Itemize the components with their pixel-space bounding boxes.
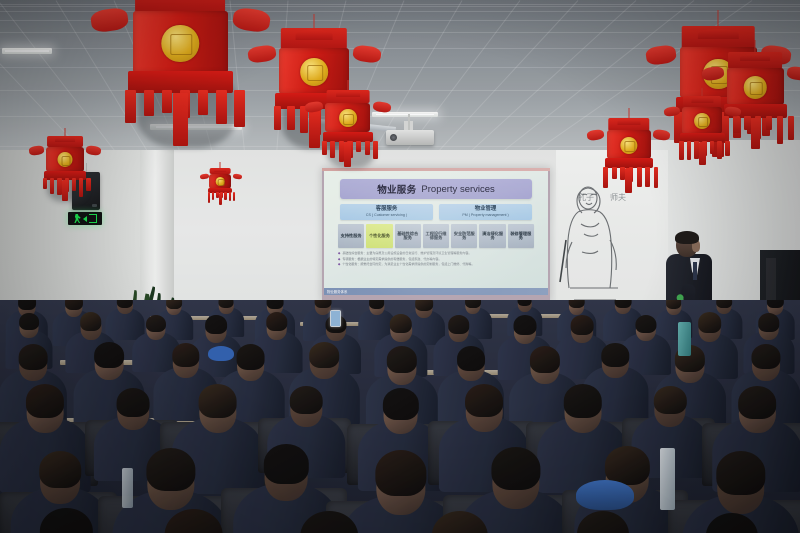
lantern-tassel <box>603 167 608 188</box>
category-label: 基础性综合服务 <box>396 232 420 242</box>
bullet-text: 个性化服务：按委托合同约定，为满足业主个性化需求所提供的定制服务，包括上门维修、… <box>342 263 474 267</box>
mural-characters: 孔子师夫 <box>578 192 626 203</box>
audience-hair <box>146 315 166 333</box>
lantern-wing-left <box>28 145 44 156</box>
lantern-tassel <box>198 90 209 115</box>
audience-hair <box>382 388 418 420</box>
lantern-tassel <box>687 141 691 160</box>
lantern-wing-left <box>664 105 681 116</box>
lantern-tassel <box>620 167 625 180</box>
lantern-string <box>628 108 629 118</box>
audience-hair <box>666 300 682 309</box>
chinese-lantern <box>318 90 378 164</box>
presenter-tie <box>693 262 697 280</box>
audience-hair <box>18 300 36 310</box>
lantern-tassel <box>710 141 714 154</box>
lantern-tassel <box>86 178 90 191</box>
audience-hair <box>267 300 284 309</box>
audience-member <box>541 511 665 533</box>
lantern-string <box>314 14 315 28</box>
audience-hair <box>568 300 585 308</box>
audience-hair <box>65 300 83 310</box>
audience-hair <box>706 513 758 533</box>
lantern-tassel <box>144 90 155 116</box>
lantern-crown <box>617 119 640 125</box>
lantern-tassel <box>356 141 361 153</box>
audience-hair <box>752 344 781 370</box>
lantern-tassel <box>125 90 136 123</box>
audience-hair <box>465 300 481 308</box>
slide-category-row: 支持性服务个性化服务基础性综合服务工程设行维修服务安全防范服务清洁绿化服务装修管… <box>338 224 534 248</box>
slide-footer: 物业服务体系 <box>324 288 548 295</box>
audience-hair <box>94 342 124 368</box>
lantern-tassel <box>788 116 794 140</box>
exit-arrow-icon <box>83 216 87 222</box>
audience-hair <box>698 312 722 333</box>
audience-hair <box>266 312 287 331</box>
lantern-tassel <box>274 106 282 130</box>
audience-hair <box>415 300 433 311</box>
lantern-string <box>347 80 348 90</box>
lantern-center-tassel <box>173 93 188 146</box>
lantern-center-tassel <box>62 180 68 201</box>
lantern-crown <box>336 91 360 97</box>
lantern-tassel <box>339 141 344 162</box>
projector-mount <box>408 114 410 130</box>
lantern-wing-right <box>232 173 241 179</box>
lantern-center-tassel <box>625 168 632 192</box>
slide-category-2: 个性化服务 <box>366 224 392 248</box>
lantern-tassel <box>725 141 729 156</box>
chinese-lantern <box>206 168 235 204</box>
lantern-string <box>64 128 65 136</box>
lantern-string <box>702 88 703 96</box>
category-label: 清洁绿化服务 <box>480 232 504 242</box>
category-label: 支持性服务 <box>341 234 362 239</box>
chinese-lantern <box>40 136 90 198</box>
slide-subsection-2: 物业管理PM ( Property management ) <box>439 204 532 220</box>
audience-member <box>261 511 398 533</box>
audience-hair <box>146 448 195 491</box>
lantern-medallion <box>694 113 710 129</box>
category-label: 安全防范服务 <box>452 232 476 242</box>
lantern-medallion <box>300 58 328 86</box>
audience-hair <box>39 451 81 488</box>
ceiling-light-panel <box>372 112 438 117</box>
lantern-wing-right <box>786 65 800 81</box>
audience-hair <box>198 384 237 418</box>
audience-member <box>393 511 527 533</box>
projection-screen: 物业服务 Property services 客服服务CS ( Customer… <box>322 168 550 301</box>
slide-category-1: 支持性服务 <box>338 224 364 248</box>
chinese-lantern <box>718 52 793 146</box>
category-label: 工程设行维修服务 <box>424 232 448 242</box>
exit-door-icon <box>89 214 97 223</box>
lantern-wing-left <box>199 173 208 179</box>
audience-hair <box>530 346 560 373</box>
slide-bullets: ◆基础性综合服务：主要为房屋及公用设施设备的日常运行、维护管理及环境卫生管理等服… <box>338 252 534 266</box>
category-label: 装修管理服务 <box>509 232 533 242</box>
lantern-tassel <box>234 90 245 126</box>
subsection-label-en: PM ( Property management ) <box>439 213 532 218</box>
projector-lens-icon <box>390 134 397 141</box>
lantern-tassel <box>744 116 750 131</box>
audience-hair <box>172 343 199 367</box>
lantern-tassel <box>208 192 210 202</box>
lantern-wing-left <box>304 101 323 114</box>
slide-category-4: 工程设行维修服务 <box>423 224 449 248</box>
audience <box>0 300 800 533</box>
audience-hair <box>465 384 503 417</box>
lantern-wing-right <box>352 45 382 65</box>
presentation-slide: 物业服务 Property services 客服服务CS ( Customer… <box>324 171 548 288</box>
lantern-center-tassel <box>699 142 705 164</box>
lantern-crown <box>296 30 333 39</box>
lantern-tassel <box>637 167 642 187</box>
lantern-tassel <box>777 116 783 144</box>
lantern-tassel <box>365 141 370 155</box>
slide-category-3: 基础性综合服务 <box>395 224 421 248</box>
audience-hair <box>615 300 632 308</box>
lantern-tassel <box>229 192 231 201</box>
audience-hair <box>514 315 537 335</box>
subsection-label-cn: 物业管理 <box>439 206 532 213</box>
slide-bullet-3: ◆个性化服务：按委托合同约定，为满足业主个性化需求所提供的定制服务，包括上门维修… <box>338 263 534 267</box>
slide-category-7: 装修管理服务 <box>508 224 534 248</box>
lantern-wing-right <box>372 101 391 114</box>
audience-hair <box>432 511 488 533</box>
audience-member <box>4 508 128 533</box>
lantern-tassel <box>72 178 76 191</box>
lantern-crown <box>215 169 227 172</box>
audience-hair <box>19 313 39 330</box>
audience-hair <box>457 346 485 371</box>
slide-bullet-2: ◆专项服务：根据业主的特定需求提供的有偿服务，包括家政、代办等内容。 <box>338 258 534 262</box>
audience-hair <box>26 384 64 418</box>
slide-subsection-1: 客服服务CS ( Customer servicing ) <box>340 204 433 220</box>
audience-hair <box>236 344 265 369</box>
audience-hair <box>117 388 150 417</box>
lantern-tassel <box>212 192 214 199</box>
lantern-tassel <box>322 141 327 156</box>
slide-title: 物业服务 Property services <box>340 179 532 199</box>
lantern-crown <box>698 29 738 39</box>
audience-hair <box>571 315 594 335</box>
lantern-medallion <box>216 177 225 186</box>
lantern-tassel <box>654 167 659 188</box>
lantern-center-tassel <box>344 142 351 167</box>
lantern-tassel <box>43 178 47 189</box>
audience-hair <box>491 447 540 490</box>
lantern-wing-left <box>587 128 606 140</box>
bullet-marker-icon: ◆ <box>338 263 340 267</box>
audience-hair <box>448 315 470 334</box>
audience-hair <box>602 343 629 367</box>
audience-member <box>670 513 794 533</box>
lantern-wing-left <box>247 45 277 65</box>
lantern-tassel <box>50 178 54 193</box>
lantern-tassel <box>162 90 173 113</box>
audience-hair <box>716 300 732 308</box>
bullet-text: 专项服务：根据业主的特定需求提供的有偿服务，包括家政、代办等内容。 <box>342 258 441 262</box>
lantern-tassel <box>330 141 335 158</box>
lantern-tassel <box>766 116 772 130</box>
chinese-lantern <box>118 0 243 140</box>
lantern-wing-right <box>724 105 741 116</box>
audience-hair <box>387 346 417 373</box>
audience-hair <box>309 342 339 368</box>
lantern-tassel <box>216 90 227 124</box>
audience-hair <box>264 444 308 483</box>
slide-subsections: 客服服务CS ( Customer servicing )物业管理PM ( Pr… <box>340 204 532 220</box>
audience-hair <box>738 386 776 419</box>
bullet-marker-icon: ◆ <box>338 258 340 262</box>
lantern-tassel <box>287 106 295 130</box>
audience-hair <box>758 313 779 332</box>
audience-hair <box>654 386 686 415</box>
lantern-string <box>755 40 756 52</box>
lantern-tassel <box>373 141 378 160</box>
audience-hair <box>19 344 48 369</box>
audience-hair <box>290 386 323 415</box>
category-label: 个性化服务 <box>369 234 390 239</box>
bullet-text: 基础性综合服务：主要为房屋及公用设施设备的日常运行、维护管理及环境卫生管理等服务… <box>342 252 471 256</box>
blue-hair-bow <box>208 346 234 361</box>
audience-hair <box>369 300 385 309</box>
subsection-label-cn: 客服服务 <box>340 206 433 213</box>
audience-hair <box>315 300 332 308</box>
lantern-string <box>718 10 719 26</box>
slide-title-cn: 物业服务 <box>377 182 416 196</box>
audience-hair <box>166 300 182 309</box>
lantern-tassel <box>733 116 739 133</box>
audience-hair <box>40 508 92 533</box>
water-bottle <box>122 468 133 508</box>
ceiling-light-panel <box>2 48 52 54</box>
slide-title-en: Property services <box>421 184 494 195</box>
lantern-tassel <box>233 192 235 201</box>
lantern-tassel <box>224 192 226 200</box>
lantern-tassel <box>679 141 683 160</box>
presenter-hair <box>675 231 699 244</box>
lantern-medallion <box>57 152 72 167</box>
lantern-tassel <box>717 141 721 159</box>
blue-hair-bow <box>576 480 634 510</box>
audience-hair <box>80 312 102 331</box>
audience-hair <box>563 384 601 418</box>
lantern-wing-right <box>85 145 101 156</box>
lantern-wing-left <box>701 65 725 81</box>
chinese-lantern <box>600 118 658 190</box>
bullet-marker-icon: ◆ <box>338 252 340 256</box>
lantern-medallion <box>339 109 357 127</box>
smartphone[interactable] <box>330 310 341 327</box>
audience-hair <box>164 509 223 533</box>
exit-sign <box>68 212 102 225</box>
conference-room-photo: 孔子师夫 物业服务 Property services 客服服务CS ( Cus… <box>0 0 800 533</box>
subsection-label-en: CS ( Customer servicing ) <box>340 213 433 218</box>
slide-category-6: 清洁绿化服务 <box>479 224 505 248</box>
lantern-tassel <box>612 167 617 179</box>
water-bottle <box>660 448 675 510</box>
ceiling-projector <box>386 130 434 145</box>
lantern-crown <box>692 97 713 102</box>
lantern-crown <box>740 54 770 61</box>
lantern-crown <box>55 137 75 142</box>
slide-bullet-1: ◆基础性综合服务：主要为房屋及公用设施设备的日常运行、维护管理及环境卫生管理等服… <box>338 252 534 256</box>
lantern-center-tassel <box>751 118 760 150</box>
audience-hair <box>375 450 426 495</box>
audience-member <box>124 509 264 533</box>
slide-category-5: 安全防范服务 <box>451 224 477 248</box>
audience-hair <box>390 314 412 334</box>
chinese-lantern <box>676 96 729 162</box>
audience-hair <box>577 511 629 533</box>
running-man-icon <box>74 214 81 223</box>
audience-hair <box>716 451 765 495</box>
lantern-tassel <box>645 167 650 187</box>
lantern-tassel <box>79 178 83 196</box>
audience-hair <box>205 315 227 334</box>
lantern-center-tassel <box>219 193 222 205</box>
audience-hair <box>635 315 656 334</box>
audience-hair <box>301 511 358 533</box>
slide-footer-tag: 物业服务体系 <box>327 289 347 294</box>
teal-thermos <box>678 322 691 356</box>
